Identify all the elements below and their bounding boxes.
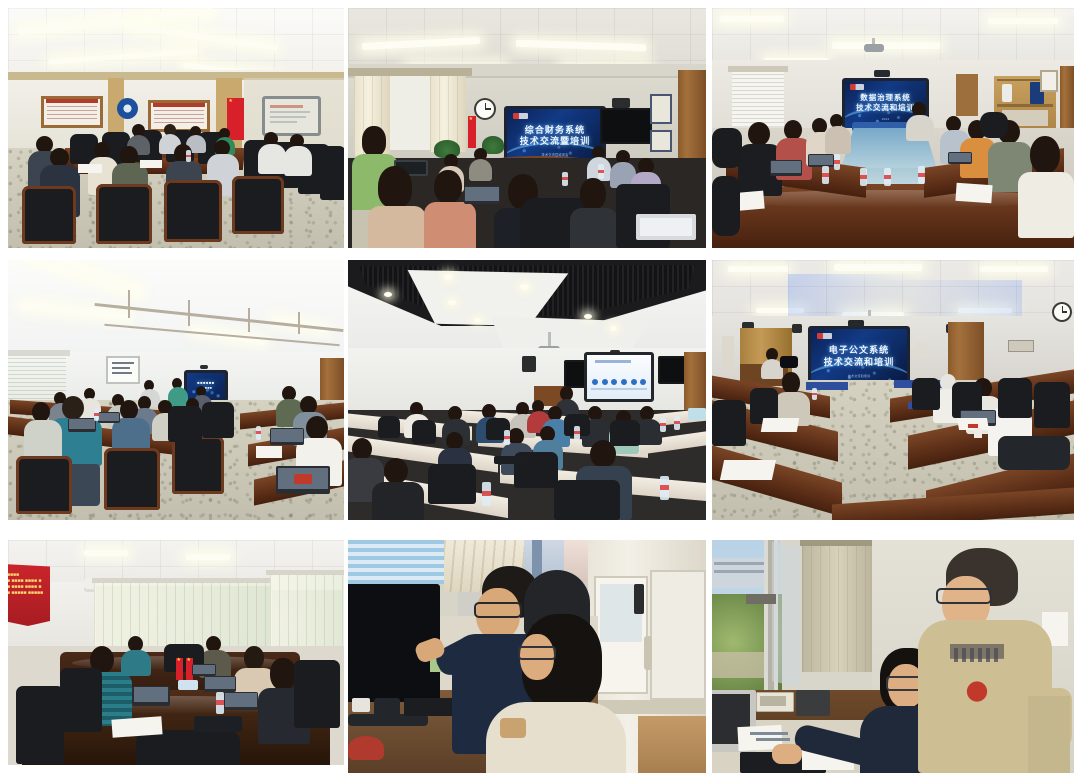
photo-cell-8[interactable] <box>348 540 706 773</box>
whiteboard <box>106 356 140 384</box>
party-pledge-banner: ■■■■■ ■■■■ ■■■■ ■■ ■■■■ ■■■■ ■■ ■■■■■ ■■… <box>8 564 50 626</box>
eyeglasses <box>518 646 556 660</box>
photo-cell-1[interactable] <box>8 8 344 248</box>
photo-2-scene: 综合财务系统 技术交流暨培训 技术交流暨培训会 <box>348 8 706 248</box>
photo-1-scene <box>8 8 344 248</box>
photo-9-scene <box>712 540 1074 773</box>
wall-clock-icon <box>1052 302 1072 322</box>
photo-5-scene <box>348 260 706 520</box>
desk-flag <box>468 116 476 148</box>
wall-clock-icon <box>474 98 496 120</box>
screen-title-line1: 电子公文系统 <box>811 345 907 355</box>
wall-certificate-left <box>41 96 103 128</box>
photo-collage-grid: 综合财务系统 技术交流暨培训 技术交流暨培训会 <box>0 0 1082 773</box>
photo-cell-6[interactable]: 电子公文系统 技术交流和培训 技术交流和培训 <box>712 260 1074 520</box>
screen-title-line1: 综合财务系统 <box>507 125 603 135</box>
projector <box>864 44 884 52</box>
eyeglasses <box>936 588 992 604</box>
photo-cell-2[interactable]: 综合财务系统 技术交流暨培训 技术交流暨培训会 <box>348 8 706 248</box>
photo-6-scene: 电子公文系统 技术交流和培训 技术交流和培训 <box>712 260 1074 520</box>
wall-emblem-icon <box>117 98 138 119</box>
photo-cell-4[interactable]: ■■■■■■ ■■■■■ <box>8 260 344 520</box>
photo-cell-9[interactable] <box>712 540 1074 773</box>
screen-title-line2: 技术交流和培训 <box>811 357 907 367</box>
photo-7-scene: ■■■■■ ■■■■ ■■■■ ■■ ■■■■ ■■■■ ■■ ■■■■■ ■■… <box>8 540 344 765</box>
display-screen-5 <box>584 352 654 402</box>
desk-flag <box>176 658 183 680</box>
photo-3-scene: 数据治理系统 技术交流和培训 2024 <box>712 8 1074 248</box>
photo-cell-7[interactable]: ■■■■■ ■■■■ ■■■■ ■■ ■■■■ ■■■■ ■■ ■■■■■ ■■… <box>8 540 344 765</box>
photo-8-scene <box>348 540 706 773</box>
wall-certificate-right <box>148 100 210 132</box>
photo-cell-3[interactable]: 数据治理系统 技术交流和培训 2024 <box>712 8 1074 248</box>
screen-title-line1: 数据治理系统 <box>845 94 926 102</box>
photo-cell-5[interactable] <box>348 260 706 520</box>
eyeglasses <box>474 602 522 618</box>
photo-4-scene: ■■■■■■ ■■■■■ <box>8 260 344 520</box>
screen-title-line2: 技术交流暨培训 <box>507 136 603 146</box>
backpack <box>998 436 1070 470</box>
